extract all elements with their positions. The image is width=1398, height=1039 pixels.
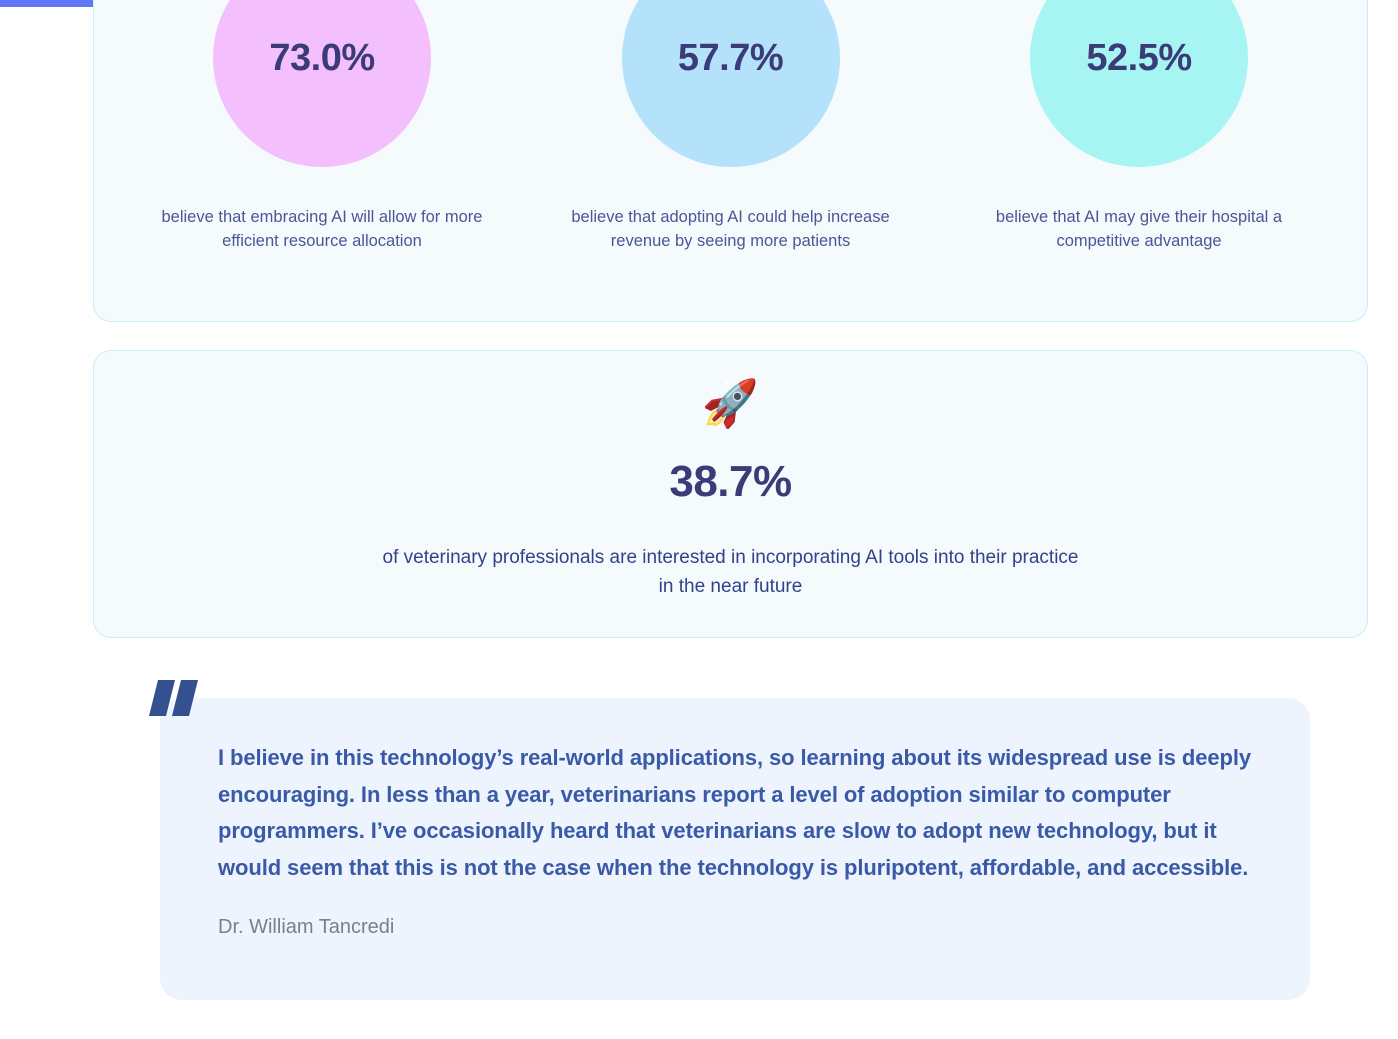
stat-caption: believe that adopting AI could help incr… <box>566 205 896 253</box>
stat-value: 73.0% <box>269 37 374 80</box>
stat-item-competitive-advantage: 52.5% believe that AI may give their hos… <box>969 1 1309 323</box>
stat-circles-row: 73.0% believe that embracing AI will all… <box>94 1 1367 323</box>
quote-mark-icon <box>148 678 200 718</box>
stat-caption: believe that embracing AI will allow for… <box>157 205 487 253</box>
stat-item-resource-allocation: 73.0% believe that embracing AI will all… <box>152 1 492 323</box>
stat-item-revenue-increase: 57.7% believe that adopting AI could hel… <box>561 1 901 323</box>
quote-author: Dr. William Tancredi <box>218 916 1252 939</box>
stat-value: 57.7% <box>678 37 783 80</box>
future-stat-caption: of veterinary professionals are interest… <box>381 543 1081 601</box>
stat-circle-pink: 73.0% <box>213 0 431 167</box>
page-root: 73.0% believe that embracing AI will all… <box>0 0 1398 1039</box>
future-interest-card: 🚀 38.7% of veterinary professionals are … <box>93 350 1368 638</box>
quote-text: I believe in this technology’s real-worl… <box>218 740 1252 886</box>
quote-block: I believe in this technology’s real-worl… <box>148 676 1310 1000</box>
stat-value: 52.5% <box>1086 37 1191 80</box>
stats-card: 73.0% believe that embracing AI will all… <box>93 0 1368 322</box>
stat-circle-teal: 52.5% <box>1030 0 1248 167</box>
rocket-icon: 🚀 <box>702 377 759 429</box>
stat-caption: believe that AI may give their hospital … <box>974 205 1304 253</box>
future-card-content: 🚀 38.7% of veterinary professionals are … <box>94 351 1367 637</box>
quote-box: I believe in this technology’s real-worl… <box>160 698 1310 1000</box>
stat-circle-blue: 57.7% <box>622 0 840 167</box>
future-stat-value: 38.7% <box>669 457 791 507</box>
